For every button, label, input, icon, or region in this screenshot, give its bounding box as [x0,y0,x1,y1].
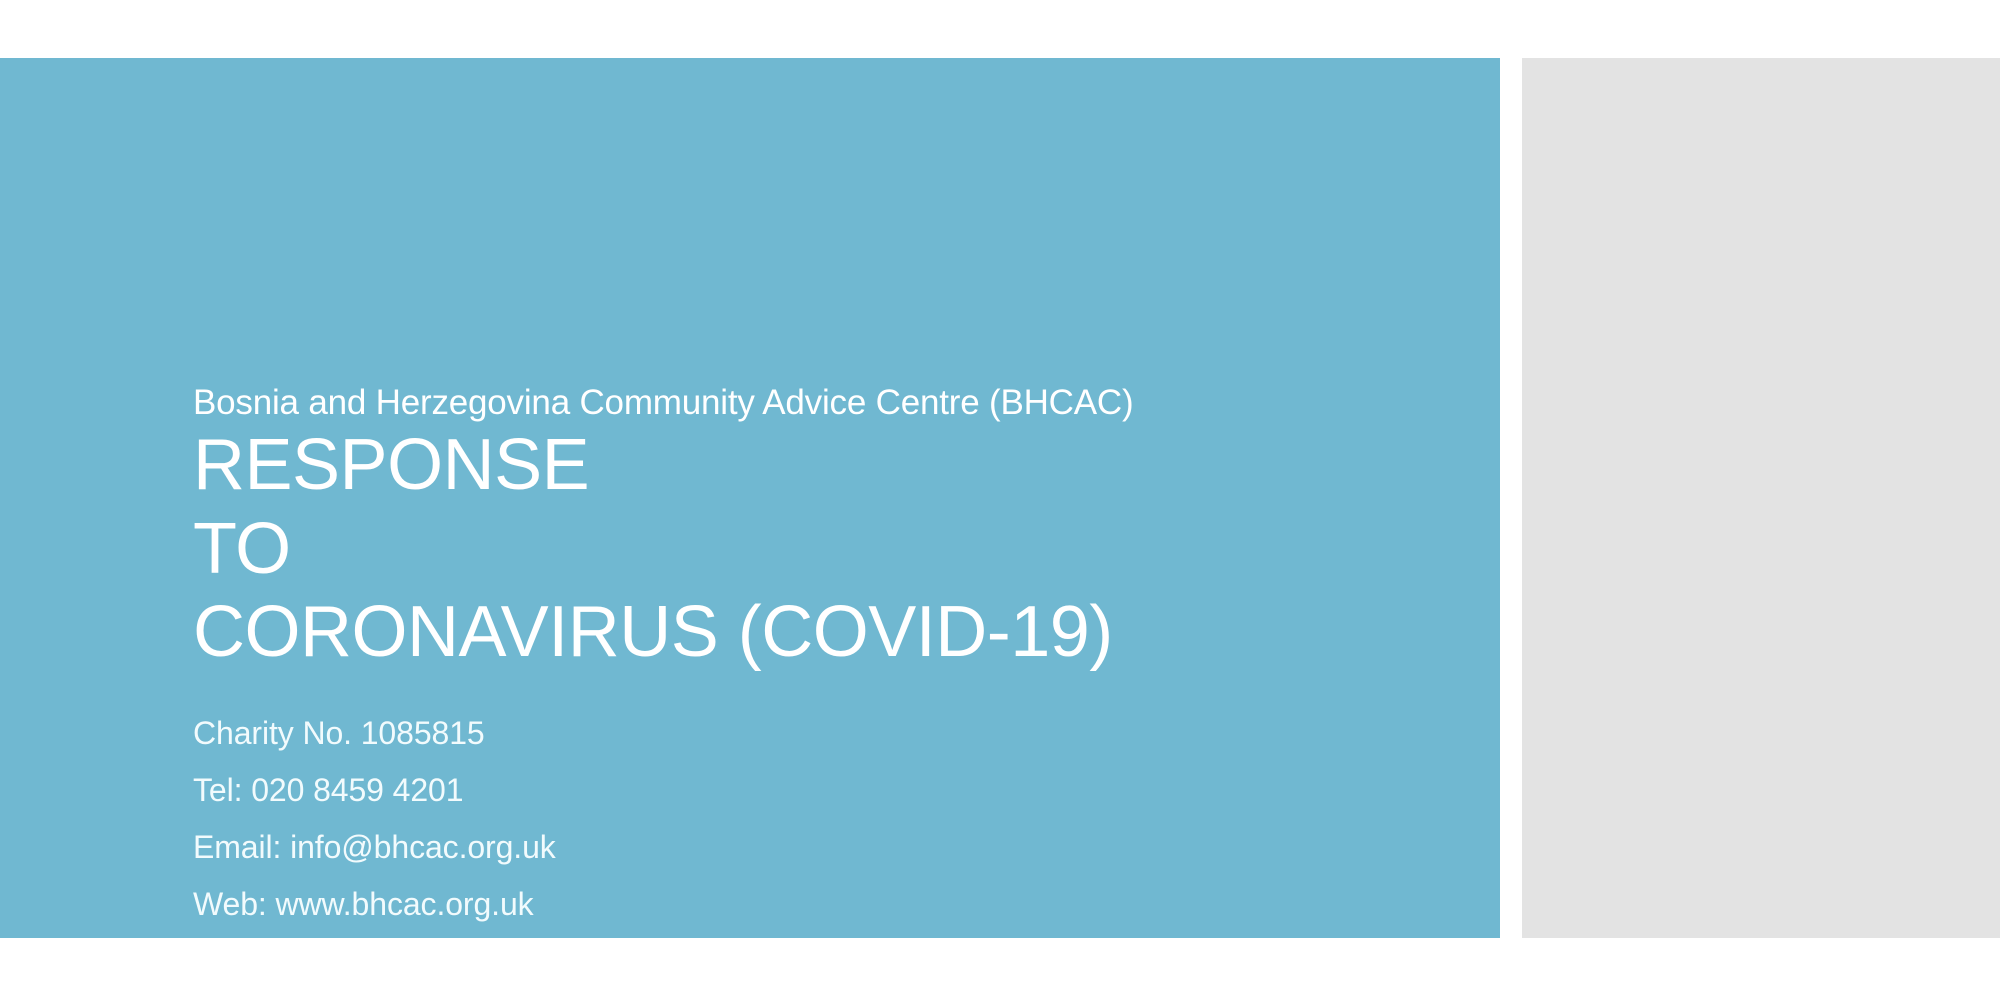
content-placeholder-panel[interactable] [1522,58,2000,938]
charity-number: Charity No. 1085815 [193,717,1453,749]
title-line-1: RESPONSE [193,424,1453,508]
title-line-3: CORONAVIRUS (COVID-19) [193,591,1453,675]
telephone-number: Tel: 020 8459 4201 [193,774,1453,806]
page-title: RESPONSE TO CORONAVIRUS (COVID-19) [193,424,1453,675]
title-text-block: Bosnia and Herzegovina Community Advice … [193,383,1453,920]
organisation-name: Bosnia and Herzegovina Community Advice … [193,383,1453,422]
title-line-2: TO [193,508,1453,592]
slide-canvas: Bosnia and Herzegovina Community Advice … [0,0,2000,1000]
email-address: Email: info@bhcac.org.uk [193,831,1453,863]
contact-details-block: Charity No. 1085815 Tel: 020 8459 4201 E… [193,717,1453,920]
website-address: Web: www.bhcac.org.uk [193,888,1453,920]
title-panel: Bosnia and Herzegovina Community Advice … [0,58,1500,938]
